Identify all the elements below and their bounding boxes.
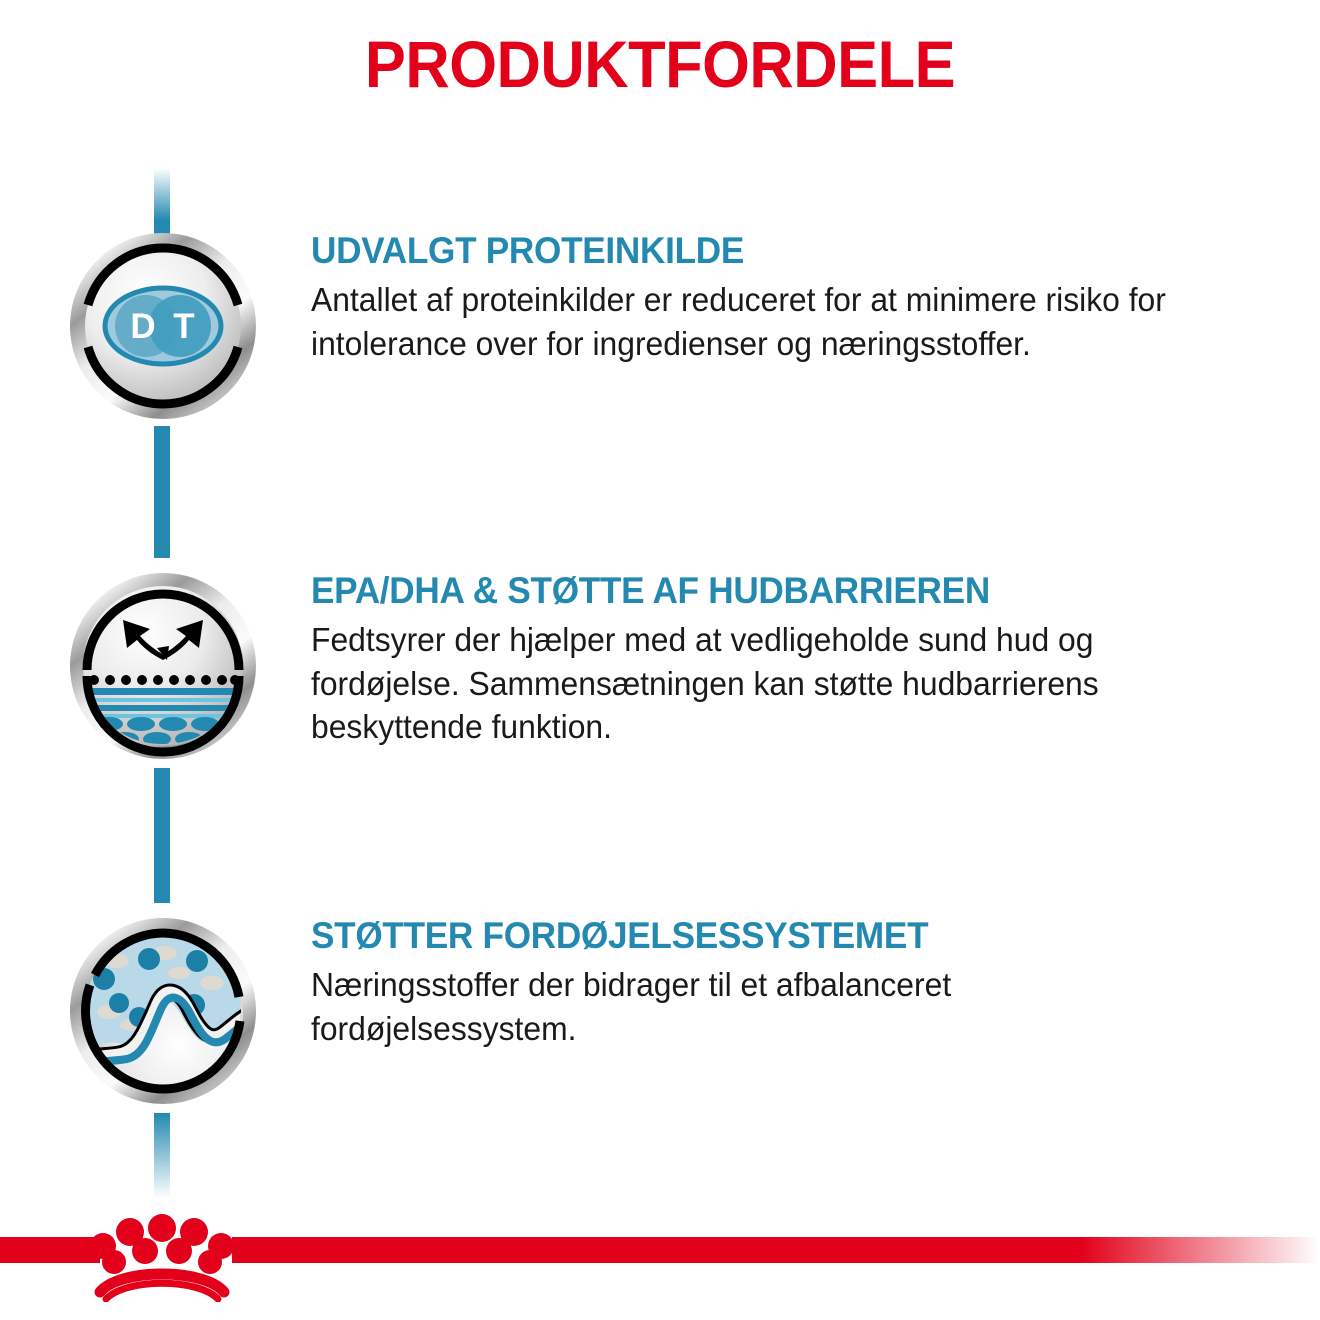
royal-canin-crown-logo <box>86 1206 238 1302</box>
venn-dt-icon: D T <box>69 232 257 420</box>
skin-barrier-icon <box>69 572 257 760</box>
venn-label-t: T <box>173 307 194 346</box>
footer-bar-left <box>0 1237 100 1263</box>
footer-bar-right <box>232 1237 1320 1263</box>
benefit-body-2: Fedtsyrer der hjælper med at vedligehold… <box>311 618 1223 749</box>
benefit-text-3: STØTTER FORDØJELSESSYSTEMET Næringsstoff… <box>311 917 1256 1050</box>
timeline-segment-top <box>154 168 170 238</box>
timeline-segment-bottom <box>154 1113 170 1198</box>
benefit-text-2: EPA/DHA & STØTTE AF HUDBARRIEREN Fedtsyr… <box>311 572 1256 749</box>
benefit-title-2: EPA/DHA & STØTTE AF HUDBARRIEREN <box>311 572 1209 609</box>
timeline-segment-2 <box>154 768 170 903</box>
venn-label-d: D <box>130 307 155 346</box>
digestive-support-icon <box>69 917 257 1105</box>
page-title: PRODUKTFORDELE <box>46 26 1274 102</box>
benefit-text-1: UDVALGT PROTEINKILDE Antallet af protein… <box>311 232 1256 365</box>
benefit-title-3: STØTTER FORDØJELSESSYSTEMET <box>311 917 1209 954</box>
benefit-body-3: Næringsstoffer der bidrager til et afbal… <box>311 963 1223 1050</box>
footer <box>0 1232 1320 1320</box>
benefit-body-1: Antallet af proteinkilder er reduceret f… <box>311 278 1223 365</box>
benefit-title-1: UDVALGT PROTEINKILDE <box>311 232 1209 269</box>
timeline-segment-1 <box>154 426 170 558</box>
